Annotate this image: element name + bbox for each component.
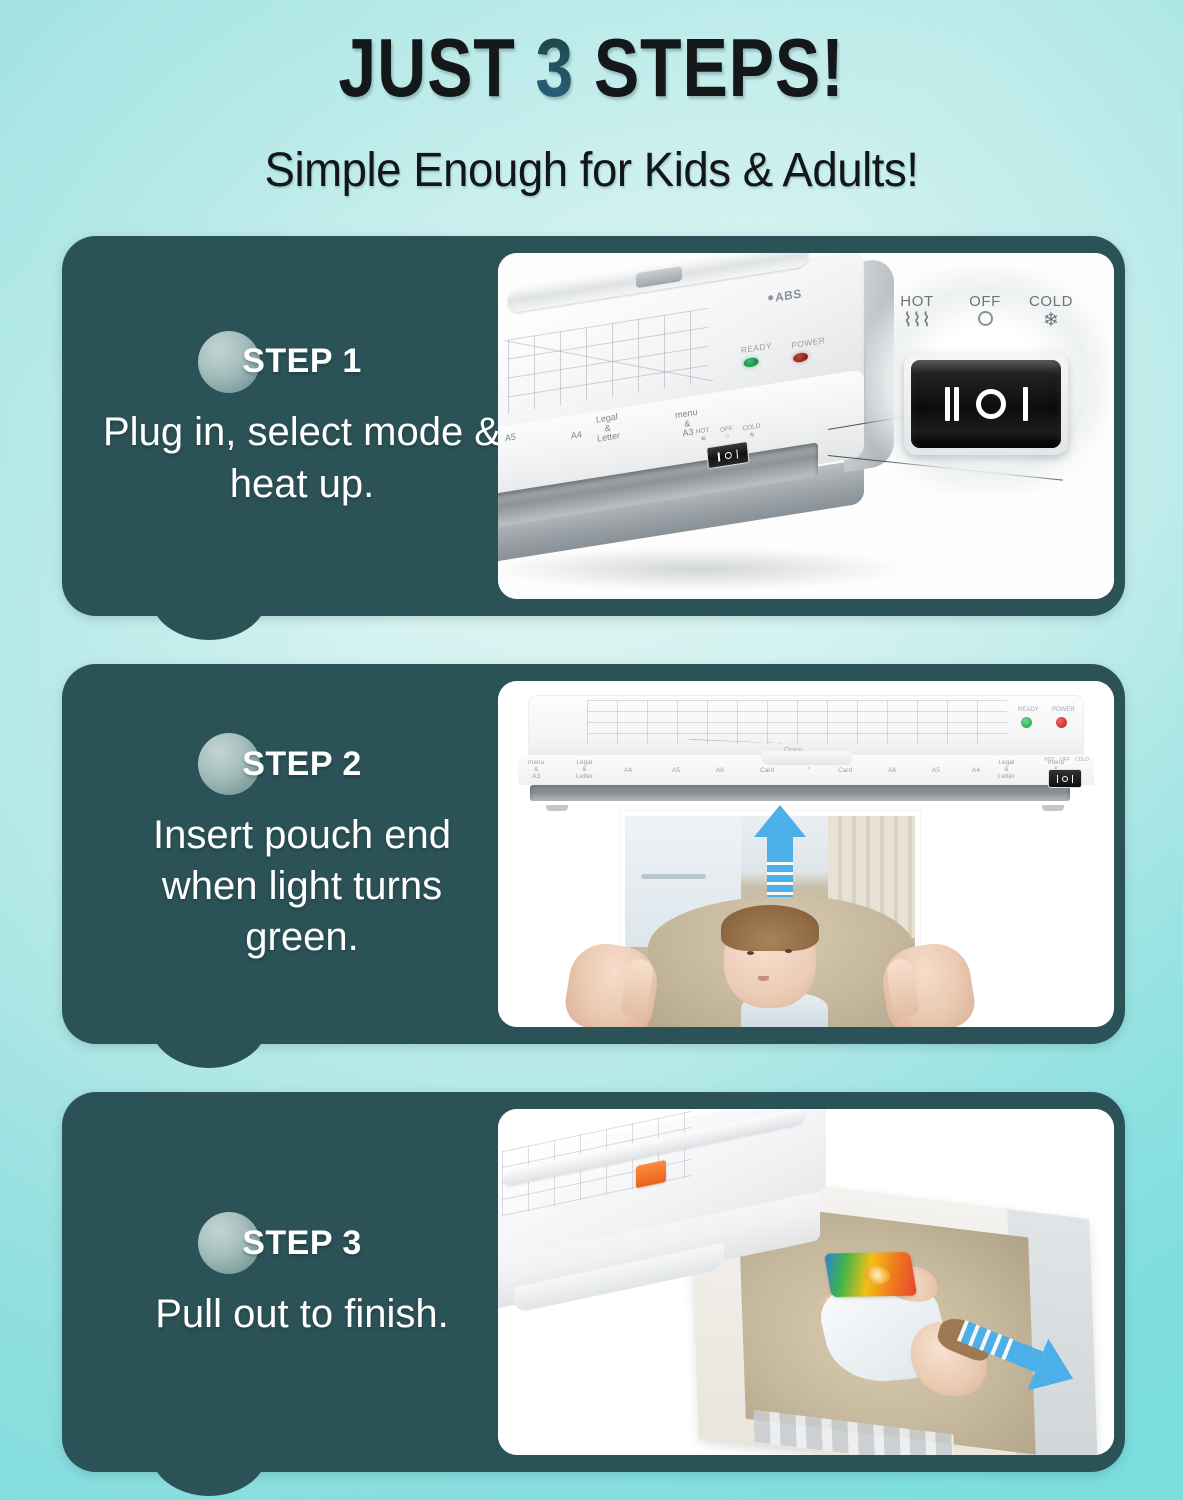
power-led-red xyxy=(1056,717,1067,728)
step-1-text-column: STEP 1 Plug in, select mode & heat up. xyxy=(62,236,542,616)
size-guide-legal-letter: Legal&Letter xyxy=(595,412,620,445)
mode-switch-on-device[interactable]: HOT OFF COLD xyxy=(1044,757,1088,791)
snowflake-icon: ❄ xyxy=(1018,311,1084,332)
step-3-text-column: STEP 3 Pull out to finish. xyxy=(62,1092,542,1472)
off-circle-icon xyxy=(952,311,1018,332)
step-1-description: Plug in, select mode & heat up. xyxy=(102,407,502,509)
rocker-marking-ii-icon xyxy=(945,387,950,421)
rocker-switch-small[interactable] xyxy=(706,441,749,470)
trimmer-angle-fan xyxy=(689,702,909,744)
front-guide-a5-left: A5 xyxy=(672,767,680,774)
step-3-label: STEP 3 xyxy=(242,1224,362,1262)
size-guide-a5: A5 xyxy=(505,432,517,443)
front-guide-menu-a3-left: menu&A3 xyxy=(528,759,544,780)
mode-hot-label: HOT xyxy=(1044,757,1055,763)
step-3-description: Pull out to finish. xyxy=(155,1289,449,1340)
mode-cold-label: COLD xyxy=(1075,757,1089,763)
rocker-switch-enlarged[interactable] xyxy=(911,360,1061,448)
step-2-label: STEP 2 xyxy=(242,745,362,783)
photo-baby-eye-left xyxy=(747,951,754,955)
step-2-photo: Open menu&A3 Legal&Letter A4 A5 A6 Card … xyxy=(498,681,1114,1027)
step-card-1: STEP 1 Plug in, select mode & heat up. A… xyxy=(62,236,1125,616)
step-2-description: Insert pouch end when light turns green. xyxy=(102,810,502,964)
rocker-circle-o-icon xyxy=(724,451,732,459)
step-2-text-column: STEP 2 Insert pouch end when light turns… xyxy=(62,664,542,1044)
step-3-photo xyxy=(498,1109,1114,1455)
front-guide-a4-left: A4 xyxy=(624,767,632,774)
front-guide-a4-right: A4 xyxy=(972,767,980,774)
infographic-root: JUST 3 STEPS! Simple Enough for Kids & A… xyxy=(0,0,1183,1500)
front-guide-legal-letter-left: Legal&Letter xyxy=(576,759,593,780)
front-guide-a6-right: A6 xyxy=(888,767,896,774)
step-2-label-wrap: STEP 2 xyxy=(242,745,362,784)
mode-off-label: OFF xyxy=(952,293,1018,310)
heat-waves-icon: ⌇⌇⌇ xyxy=(884,311,950,332)
laminator-top-plate xyxy=(528,695,1084,755)
page-title-number: 3 xyxy=(535,21,574,114)
rocker-marking-i-icon xyxy=(1023,387,1028,421)
rocker-switch-housing xyxy=(904,353,1068,455)
mode-cold-label-small: COLD✳ xyxy=(738,422,765,441)
power-indicator-label: POWER xyxy=(1052,707,1075,713)
step-1-photo: ABS READY POWER A5 A4 Legal&Letter menu&… xyxy=(498,253,1114,599)
rocker-marking-i-icon xyxy=(1072,775,1073,783)
mode-off: OFF xyxy=(952,293,1018,332)
rocker-bar-i-icon xyxy=(736,449,738,458)
laminator-front-illustration: Open menu&A3 Legal&Letter A4 A5 A6 Card … xyxy=(498,681,1114,1027)
mode-hot: HOT ⌇⌇⌇ xyxy=(884,293,950,332)
front-guide-a6-left: A6 xyxy=(716,767,724,774)
front-guide-center: ▫ xyxy=(808,765,810,772)
laminator-feed-slot xyxy=(530,785,1070,801)
switch-callout-zoom: HOT ⌇⌇⌇ OFF COLD ❄ xyxy=(882,291,1092,471)
mode-cold-label: COLD xyxy=(1018,293,1084,310)
step-1-label: STEP 1 xyxy=(242,342,362,380)
rocker-marking-o-icon xyxy=(976,389,1006,419)
rocker-switch[interactable] xyxy=(1048,769,1082,788)
front-guide-legal-letter-right: Legal&Letter xyxy=(998,759,1015,780)
step-3-label-wrap: STEP 3 xyxy=(242,1224,362,1263)
front-guide-card-right: Card xyxy=(838,767,852,774)
step-card-2: STEP 2 Insert pouch end when light turns… xyxy=(62,664,1125,1044)
step-1-label-wrap: STEP 1 xyxy=(242,342,362,381)
mode-hot-label-small: HOT≋ xyxy=(691,426,716,445)
page-title-prefix: JUST xyxy=(338,21,535,114)
laminator-body-front: Open menu&A3 Legal&Letter A4 A5 A6 Card … xyxy=(512,695,1100,807)
photo-baby-hair xyxy=(721,905,820,951)
front-guide-card-left: Card xyxy=(760,767,774,774)
laminator-angled-illustration: ABS READY POWER A5 A4 Legal&Letter menu&… xyxy=(498,253,1114,599)
page-title-suffix: STEPS! xyxy=(574,21,844,114)
ready-led-green xyxy=(1021,717,1032,728)
mode-cold: COLD ❄ xyxy=(1018,293,1084,332)
mode-hot-label: HOT xyxy=(884,293,950,310)
photo-baby-eye-right xyxy=(785,949,792,953)
rocker-marking-o-icon xyxy=(1062,776,1068,782)
mode-off-label: OFF xyxy=(1060,757,1070,763)
insert-direction-arrow-icon xyxy=(754,805,806,899)
mode-off-label-small: OFF○ xyxy=(714,424,739,442)
paper-size-guides-front: menu&A3 Legal&Letter A4 A5 A6 Card ▫ Car… xyxy=(520,757,1092,783)
laminator-body-angled xyxy=(498,1115,904,1345)
page-subtitle: Simple Enough for Kids & Adults! xyxy=(30,143,1154,198)
mode-labels-enlarged: HOT ⌇⌇⌇ OFF COLD ❄ xyxy=(882,293,1092,353)
page-title: JUST 3 STEPS! xyxy=(106,26,1076,109)
rocker-marking-ii-icon xyxy=(1057,775,1058,783)
ready-indicator-label: READY xyxy=(1018,707,1039,713)
size-guide-a4: A4 xyxy=(570,430,582,441)
laminated-output-illustration xyxy=(498,1109,1114,1455)
rocker-bar-ii-icon xyxy=(717,452,719,461)
front-guide-a5-right: A5 xyxy=(932,767,940,774)
step-card-3: STEP 3 Pull out to finish. xyxy=(62,1092,1125,1472)
